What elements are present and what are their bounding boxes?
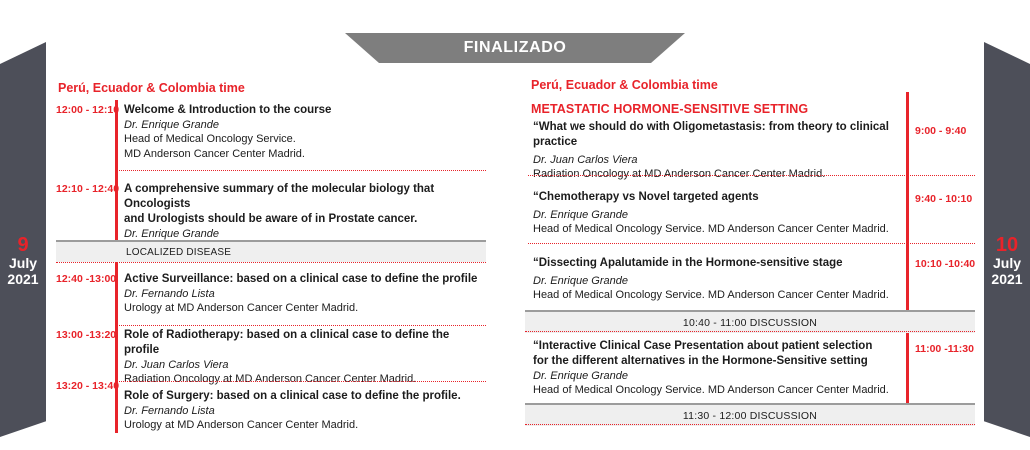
session-affiliation: Urology at MD Anderson Cancer Center Mad…	[124, 418, 486, 433]
day-number-left: 9	[0, 234, 46, 256]
row-separator	[525, 424, 975, 425]
session-title: Role of Surgery: based on a clinical cas…	[124, 389, 486, 404]
session-speaker: Dr. Enrique Grande	[124, 118, 486, 133]
day-number-right: 10	[984, 234, 1030, 256]
session-speaker: Dr. Enrique Grande	[533, 274, 893, 289]
timezone-header-left: Perú, Ecuador & Colombia time	[58, 81, 245, 95]
session-speaker: Dr. Fernando Lista	[124, 287, 486, 302]
session-affiliation: Head of Medical Oncology Service. MD And…	[533, 222, 893, 237]
session-time: 13:00 -13:20	[56, 329, 114, 341]
session-time: 9:00 - 9:40	[915, 125, 981, 137]
session-speaker: Dr. Fernando Lista	[124, 404, 486, 419]
day-slab-left-date: 9 July 2021	[0, 234, 46, 288]
session-time: 12:40 -13:00	[56, 273, 114, 285]
session-title: “What we should do with Oligometastasis:…	[533, 120, 893, 150]
row-separator	[116, 325, 486, 326]
session-title: and Urologists should be aware of in Pro…	[124, 212, 486, 227]
day-month-right: July	[984, 256, 1030, 272]
session-title: Role of Radiotherapy: based on a clinica…	[124, 328, 486, 358]
session-affiliation: MD Anderson Cancer Center Madrid.	[124, 147, 486, 162]
discussion-label: 11:30 - 12:00 DISCUSSION	[683, 410, 817, 422]
session-title: “Dissecting Apalutamide in the Hormone-s…	[533, 256, 893, 271]
row-separator	[525, 331, 975, 332]
session-title: A comprehensive summary of the molecular…	[124, 182, 486, 212]
session-time: 13:20 - 13:40	[56, 380, 114, 392]
section-header-metastatic: METASTATIC HORMONE-SENSITIVE SETTING	[531, 102, 808, 116]
day-year-right: 2021	[984, 272, 1030, 288]
row-separator	[528, 243, 975, 244]
section-bar-localized-disease: LOCALIZED DISEASE	[56, 240, 486, 262]
day-slab-right-date: 10 July 2021	[984, 234, 1030, 288]
timezone-header-right: Perú, Ecuador & Colombia time	[531, 78, 718, 92]
day-year-left: 2021	[0, 272, 46, 288]
session-time: 10:10 -10:40	[915, 258, 981, 270]
row-separator	[56, 262, 486, 263]
session-affiliation: Head of Medical Oncology Service.	[124, 132, 486, 147]
status-badge-finalizado: FINALIZADO	[345, 33, 685, 63]
session-title: “Interactive Clinical Case Presentation …	[533, 339, 893, 354]
session-title: for the different alternatives in the Ho…	[533, 354, 893, 369]
session-speaker: Dr. Juan Carlos Viera	[124, 358, 486, 373]
row-separator	[528, 175, 975, 176]
session-affiliation: Urology at MD Anderson Cancer Center Mad…	[124, 301, 486, 316]
session-speaker: Dr. Juan Carlos Viera	[533, 153, 893, 168]
agenda-poster: FINALIZADO 9 July 2021 10 July 2021 Perú…	[0, 0, 1030, 450]
session-time: 9:40 - 10:10	[915, 193, 981, 205]
row-separator	[116, 381, 486, 382]
section-bar-label: LOCALIZED DISEASE	[126, 247, 231, 258]
session-affiliation: Head of Medical Oncology Service. MD And…	[533, 288, 893, 303]
session-title: Welcome & Introduction to the course	[124, 103, 486, 118]
timeline-rail-right	[906, 92, 909, 415]
session-title: “Chemotherapy vs Novel targeted agents	[533, 190, 893, 205]
row-separator	[116, 170, 486, 171]
day-slab-left: 9 July 2021	[0, 42, 46, 437]
session-affiliation: Radiation Oncology at MD Anderson Cancer…	[124, 372, 486, 387]
discussion-bar: 10:40 - 11:00 DISCUSSION	[525, 310, 975, 333]
session-title: Active Surveillance: based on a clinical…	[124, 272, 486, 287]
session-time: 12:10 - 12:40	[56, 183, 114, 195]
session-speaker: Dr. Enrique Grande	[533, 208, 893, 223]
session-speaker: Dr. Enrique Grande	[533, 369, 893, 384]
session-affiliation: Head of Medical Oncology Service. MD And…	[533, 383, 893, 398]
day-slab-right: 10 July 2021	[984, 42, 1030, 437]
status-badge-label: FINALIZADO	[464, 39, 567, 57]
discussion-label: 10:40 - 11:00 DISCUSSION	[683, 317, 817, 329]
session-time: 11:00 -11:30	[915, 343, 981, 355]
day-month-left: July	[0, 256, 46, 272]
discussion-bar: 11:30 - 12:00 DISCUSSION	[525, 403, 975, 426]
session-time: 12:00 - 12:10	[56, 104, 114, 116]
